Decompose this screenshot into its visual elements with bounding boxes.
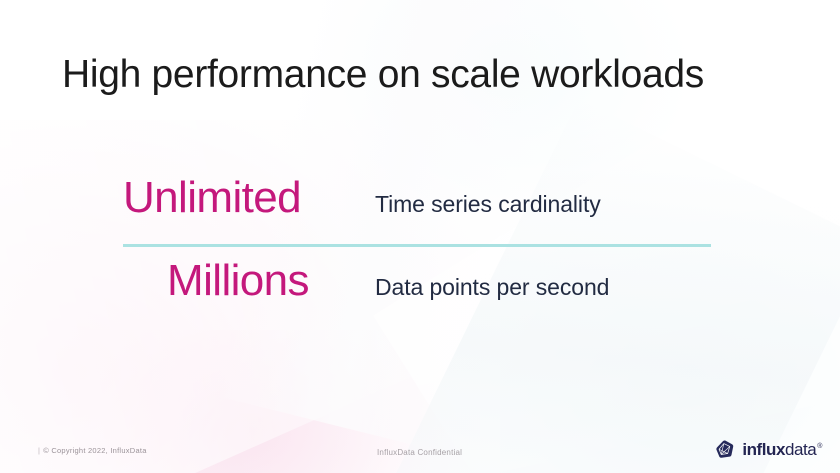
footer-confidential: InfluxData Confidential: [377, 448, 462, 457]
registered-trademark-icon: ®: [817, 443, 822, 450]
stat-value-throughput: Millions: [123, 259, 375, 303]
page-title: High performance on scale workloads: [62, 54, 704, 97]
stat-row: Millions Data points per second: [123, 247, 711, 321]
logo-word-influx: influx: [742, 440, 785, 459]
influxdata-logo: influxdata®: [716, 440, 822, 459]
influxdata-wordmark: influxdata®: [742, 441, 822, 458]
stat-label-throughput: Data points per second: [375, 276, 609, 299]
logo-word-data: data: [785, 440, 816, 459]
stat-label-cardinality: Time series cardinality: [375, 193, 601, 216]
footer-bar: |: [38, 446, 40, 455]
stat-value-cardinality: Unlimited: [123, 176, 375, 220]
footer-copyright: |© Copyright 2022, InfluxData: [38, 446, 147, 455]
stats-block: Unlimited Time series cardinality Millio…: [123, 176, 711, 321]
stat-row: Unlimited Time series cardinality: [123, 176, 711, 244]
influxdata-polygon-mark: [716, 440, 735, 459]
footer-copyright-text: © Copyright 2022, InfluxData: [43, 446, 146, 455]
slide-canvas: High performance on scale workloads Unli…: [0, 0, 840, 473]
